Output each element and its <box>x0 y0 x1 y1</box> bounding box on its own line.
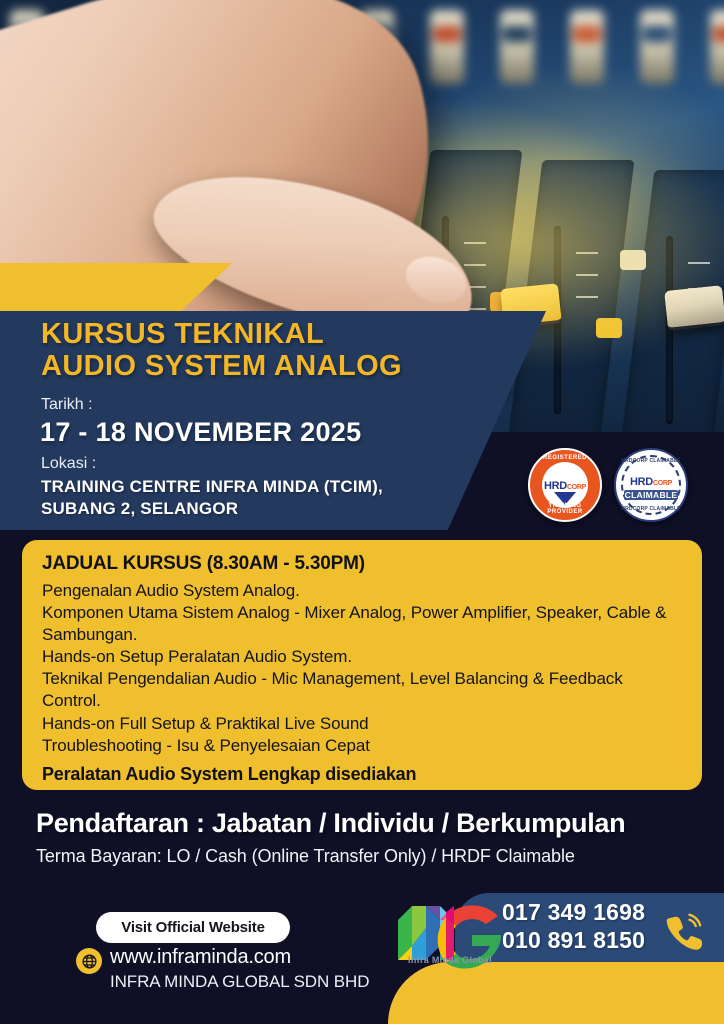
schedule-item: Troubleshooting - Isu & Penyelesaian Cep… <box>42 735 684 757</box>
badge-brand: HRDCORP <box>530 480 600 492</box>
registration-title: Pendaftaran : Jabatan / Individu / Berku… <box>36 808 625 839</box>
hrd-corp-registered-badge-icon: REGISTERED HRDCORP TRAINING PROVIDER <box>528 448 602 522</box>
location-line-1: TRAINING CENTRE INFRA MINDA (TCIM), <box>41 476 383 498</box>
schedule-heading: JADUAL KURSUS (8.30AM - 5.30PM) <box>42 553 684 575</box>
badge-claimable-label: CLAIMABLE <box>624 490 678 500</box>
visit-official-website-button[interactable]: Visit Official Website <box>96 912 290 943</box>
location-line-2: SUBANG 2, SELANGOR <box>41 498 383 520</box>
date-value: 17 - 18 NOVEMBER 2025 <box>40 417 361 448</box>
title-line-1: KURSUS TEKNIKAL <box>41 318 511 350</box>
schedule-footer-note: Peralatan Audio System Lengkap disediaka… <box>42 764 684 785</box>
phone-ringing-icon <box>662 911 702 951</box>
course-poster: KURSUS TEKNIKAL AUDIO SYSTEM ANALOG Tari… <box>0 0 724 1024</box>
schedule-item: Pengenalan Audio System Analog. <box>42 580 684 602</box>
badge-arc-bottom: HRDCORP CLAIMABLE <box>616 506 686 512</box>
badge-arc-top: HRDCORP CLAIMABLE <box>616 458 686 464</box>
schedule-item: Teknikal Pengendalian Audio - Mic Manage… <box>42 668 684 712</box>
phone-number-secondary[interactable]: 010 891 8150 <box>502 927 645 955</box>
badge-brand: HRDCORP <box>616 476 686 488</box>
schedule-item: Hands-on Setup Peralatan Audio System. <box>42 646 684 668</box>
payment-terms: Terma Bayaran: LO / Cash (Online Transfe… <box>36 846 575 867</box>
schedule-item: Komponen Utama Sistem Analog - Mixer Ana… <box>42 602 684 646</box>
date-label: Tarikh : <box>41 396 93 414</box>
badge-arc-bottom: TRAINING PROVIDER <box>530 503 600 515</box>
page-title: KURSUS TEKNIKAL AUDIO SYSTEM ANALOG <box>41 318 511 382</box>
location-label: Lokasi : <box>41 455 96 473</box>
company-name: INFRA MINDA GLOBAL SDN BHD <box>110 972 369 992</box>
schedule-item: Hands-on Full Setup & Praktikal Live Sou… <box>42 713 684 735</box>
title-line-2: AUDIO SYSTEM ANALOG <box>41 350 511 382</box>
phone-number-primary[interactable]: 017 349 1698 <box>502 899 645 927</box>
badge-arc-top: REGISTERED <box>530 455 600 461</box>
logo-tagline: Infra Minda Global <box>390 955 510 965</box>
globe-icon <box>76 948 102 974</box>
website-button-label: Visit Official Website <box>121 919 264 936</box>
yellow-footer-curve <box>388 962 724 1024</box>
schedule-box: JADUAL KURSUS (8.30AM - 5.30PM) Pengenal… <box>22 540 702 790</box>
location-value: TRAINING CENTRE INFRA MINDA (TCIM), SUBA… <box>41 476 383 520</box>
contact-phone-numbers: 017 349 1698 010 891 8150 <box>502 899 645 954</box>
website-url[interactable]: www.inframinda.com <box>110 946 291 969</box>
certification-badges: REGISTERED HRDCORP TRAINING PROVIDER HRD… <box>528 448 688 522</box>
hrd-corp-claimable-badge-icon: HRDCORP CLAIMABLE HRDCORP CLAIMABLE HRDC… <box>614 448 688 522</box>
